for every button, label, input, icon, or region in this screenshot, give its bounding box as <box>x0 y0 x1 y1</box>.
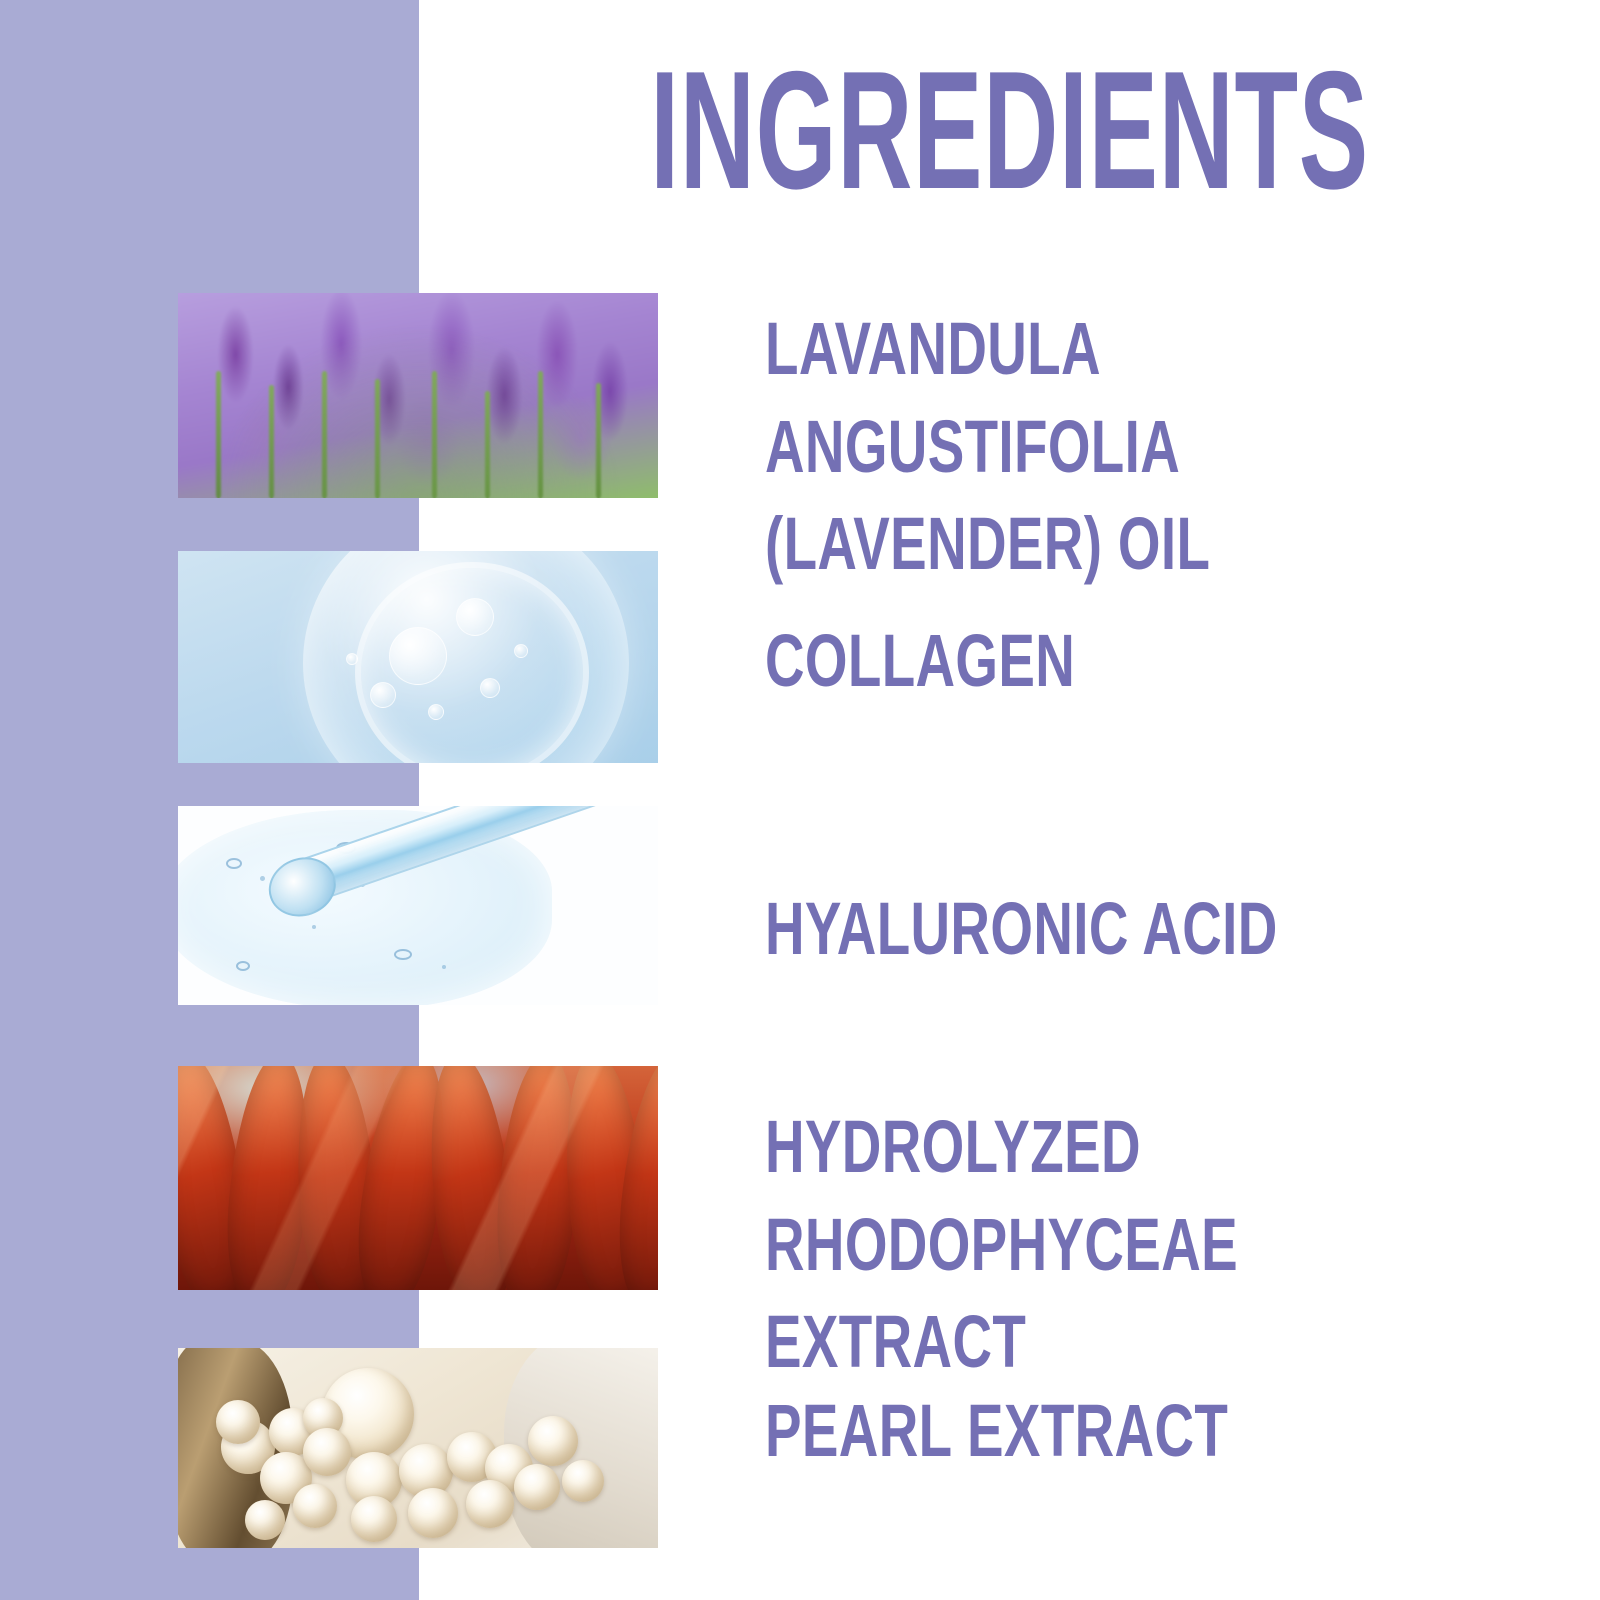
gel-bubble-ring <box>236 961 250 971</box>
ingredient-image-hydrolyzed-rhodophyceae-extract <box>178 1066 658 1290</box>
ingredient-list: LAVANDULA ANGUSTIFOLIA (LAVENDER) OIL CO… <box>0 0 1600 1600</box>
red-algae-art <box>178 1066 658 1290</box>
algae-sheen <box>178 1066 658 1290</box>
pearl <box>514 1464 560 1510</box>
pearl <box>466 1480 514 1528</box>
oyster-shell-right <box>504 1348 658 1548</box>
pearl <box>293 1484 337 1528</box>
bubble <box>346 653 358 665</box>
bubble <box>428 704 444 720</box>
pearl <box>351 1496 397 1542</box>
pearl <box>303 1428 351 1476</box>
gel-bubble-ring <box>226 858 242 869</box>
ingredient-label-pearl-extract: PEARL EXTRACT <box>765 1382 1327 1480</box>
collagen-bubble-art <box>178 551 658 763</box>
pearl <box>408 1488 458 1538</box>
gel-speck <box>260 876 265 881</box>
ingredient-image-collagen <box>178 551 658 763</box>
lavender-depth-blur <box>178 293 658 498</box>
ingredient-label-hydrolyzed-rhodophyceae-extract: HYDROLYZED RHODOPHYCEAE EXTRACT <box>765 1098 1327 1391</box>
bubble <box>456 598 494 636</box>
ingredient-label-hyaluronic-acid: HYALURONIC ACID <box>765 880 1327 978</box>
ingredient-image-pearl-extract <box>178 1348 658 1548</box>
ingredient-image-hyaluronic-acid <box>178 806 658 1005</box>
dropper-serum-art <box>178 806 658 1005</box>
ingredient-label-lavender-oil: LAVANDULA ANGUSTIFOLIA (LAVENDER) OIL <box>765 300 1327 593</box>
pearl <box>562 1460 604 1502</box>
ingredient-image-lavender-oil <box>178 293 658 498</box>
ingredient-label-collagen: COLLAGEN <box>765 612 1327 710</box>
lavender-field-art <box>178 293 658 498</box>
pearl <box>245 1500 285 1540</box>
pearls-oyster-art <box>178 1348 658 1548</box>
